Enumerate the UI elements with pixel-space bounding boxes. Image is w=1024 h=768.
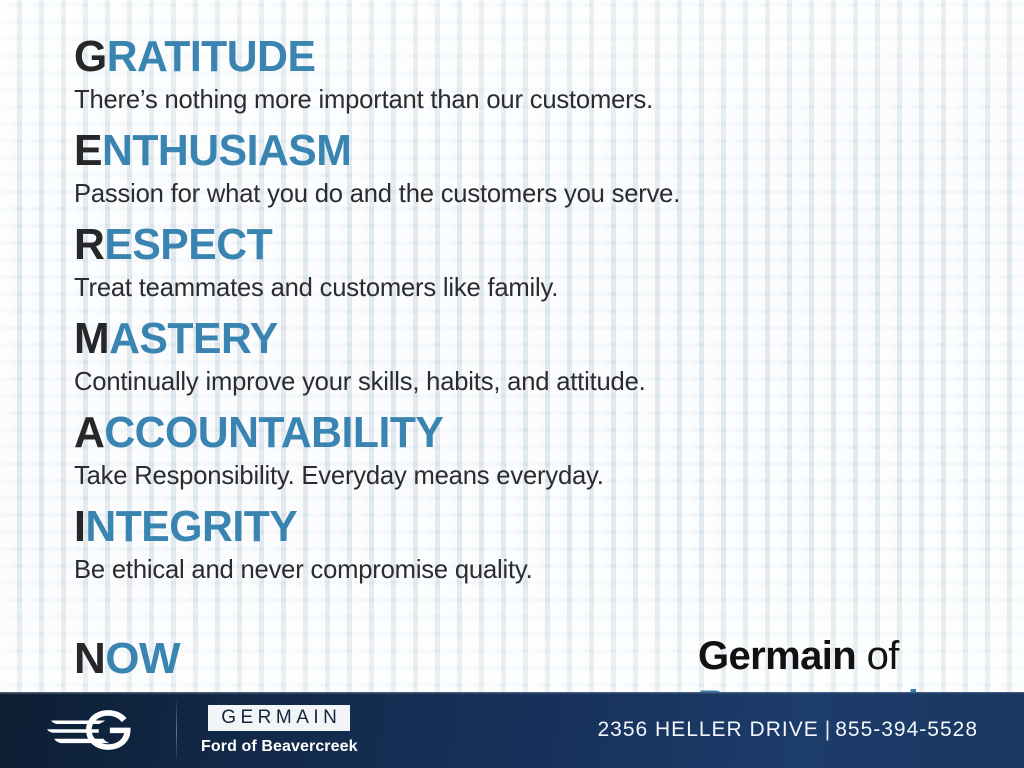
brand-lockup-of: of — [856, 634, 899, 678]
value-block: INTEGRITYBe ethical and never compromise… — [74, 502, 1004, 585]
footer-address: 2356 HELLER DRIVE — [597, 718, 818, 741]
value-block: RESPECTTreat teammates and customers lik… — [74, 220, 1004, 303]
germain-sub-wordmark: Ford of Beavercreek — [201, 738, 358, 756]
footer-contact-group: 2356 HELLER DRIVE|855-394-5528 — [597, 718, 1024, 742]
value-heading: ENTHUSIASM — [74, 126, 976, 176]
value-initial: I — [74, 502, 85, 551]
value-heading: INTEGRITY — [74, 502, 976, 552]
value-description: Passion for what you do and the customer… — [74, 177, 990, 209]
value-initial: G — [74, 32, 107, 81]
footer-divider — [176, 701, 177, 759]
value-initial: R — [74, 220, 104, 269]
germain-wordmark-group: GERMAIN Ford of Beavercreek — [201, 705, 358, 756]
value-rest: RATITUDE — [107, 32, 316, 81]
value-description: There’s nothing more important than our … — [74, 83, 990, 115]
footer-phone[interactable]: 855-394-5528 — [835, 718, 978, 741]
brand-lockup-line-1: Germain of — [698, 632, 929, 680]
value-rest: ESPECT — [104, 220, 272, 269]
value-rest: ASTERY — [109, 314, 278, 363]
footer-top-hairline — [0, 692, 1024, 694]
value-initial: E — [74, 126, 102, 175]
footer-separator: | — [819, 718, 835, 741]
value-heading: RESPECT — [74, 220, 976, 270]
value-description: Be ethical and never compromise quality. — [74, 553, 990, 585]
value-block: GRATITUDEThere’s nothing more important … — [74, 32, 1004, 115]
value-rest: NTEGRITY — [85, 502, 297, 551]
footer-bar: GERMAIN Ford of Beavercreek 2356 HELLER … — [0, 692, 1024, 768]
value-block: ACCOUNTABILITYTake Responsibility. Every… — [74, 408, 1004, 491]
value-heading: GRATITUDE — [74, 32, 976, 82]
germain-wing-g-logo-icon — [46, 707, 142, 753]
value-description: Continually improve your skills, habits,… — [74, 365, 990, 397]
value-description: Take Responsibility. Everyday means ever… — [74, 459, 990, 491]
value-heading-now: NOW — [74, 634, 180, 684]
value-block: ENTHUSIASMPassion for what you do and th… — [74, 126, 1004, 209]
value-block-now: NOW — [74, 634, 180, 684]
germain-wordmark: GERMAIN — [208, 705, 350, 731]
value-initial: M — [74, 314, 109, 363]
poster-canvas: GRATITUDEThere’s nothing more important … — [0, 0, 1024, 768]
value-initial-now: N — [74, 634, 105, 683]
footer-branding-group: GERMAIN Ford of Beavercreek — [0, 701, 358, 759]
footer-contact-line: 2356 HELLER DRIVE|855-394-5528 — [597, 718, 978, 742]
value-heading: ACCOUNTABILITY — [74, 408, 976, 458]
value-description: Treat teammates and customers like famil… — [74, 271, 990, 303]
value-initial: A — [74, 408, 104, 457]
brand-lockup-germain: Germain — [698, 634, 856, 678]
value-heading: MASTERY — [74, 314, 976, 364]
value-rest-now: OW — [105, 634, 180, 683]
value-block: MASTERYContinually improve your skills, … — [74, 314, 1004, 397]
value-rest: NTHUSIASM — [102, 126, 351, 175]
core-values-list: GRATITUDEThere’s nothing more important … — [74, 32, 1004, 596]
value-rest: CCOUNTABILITY — [104, 408, 443, 457]
